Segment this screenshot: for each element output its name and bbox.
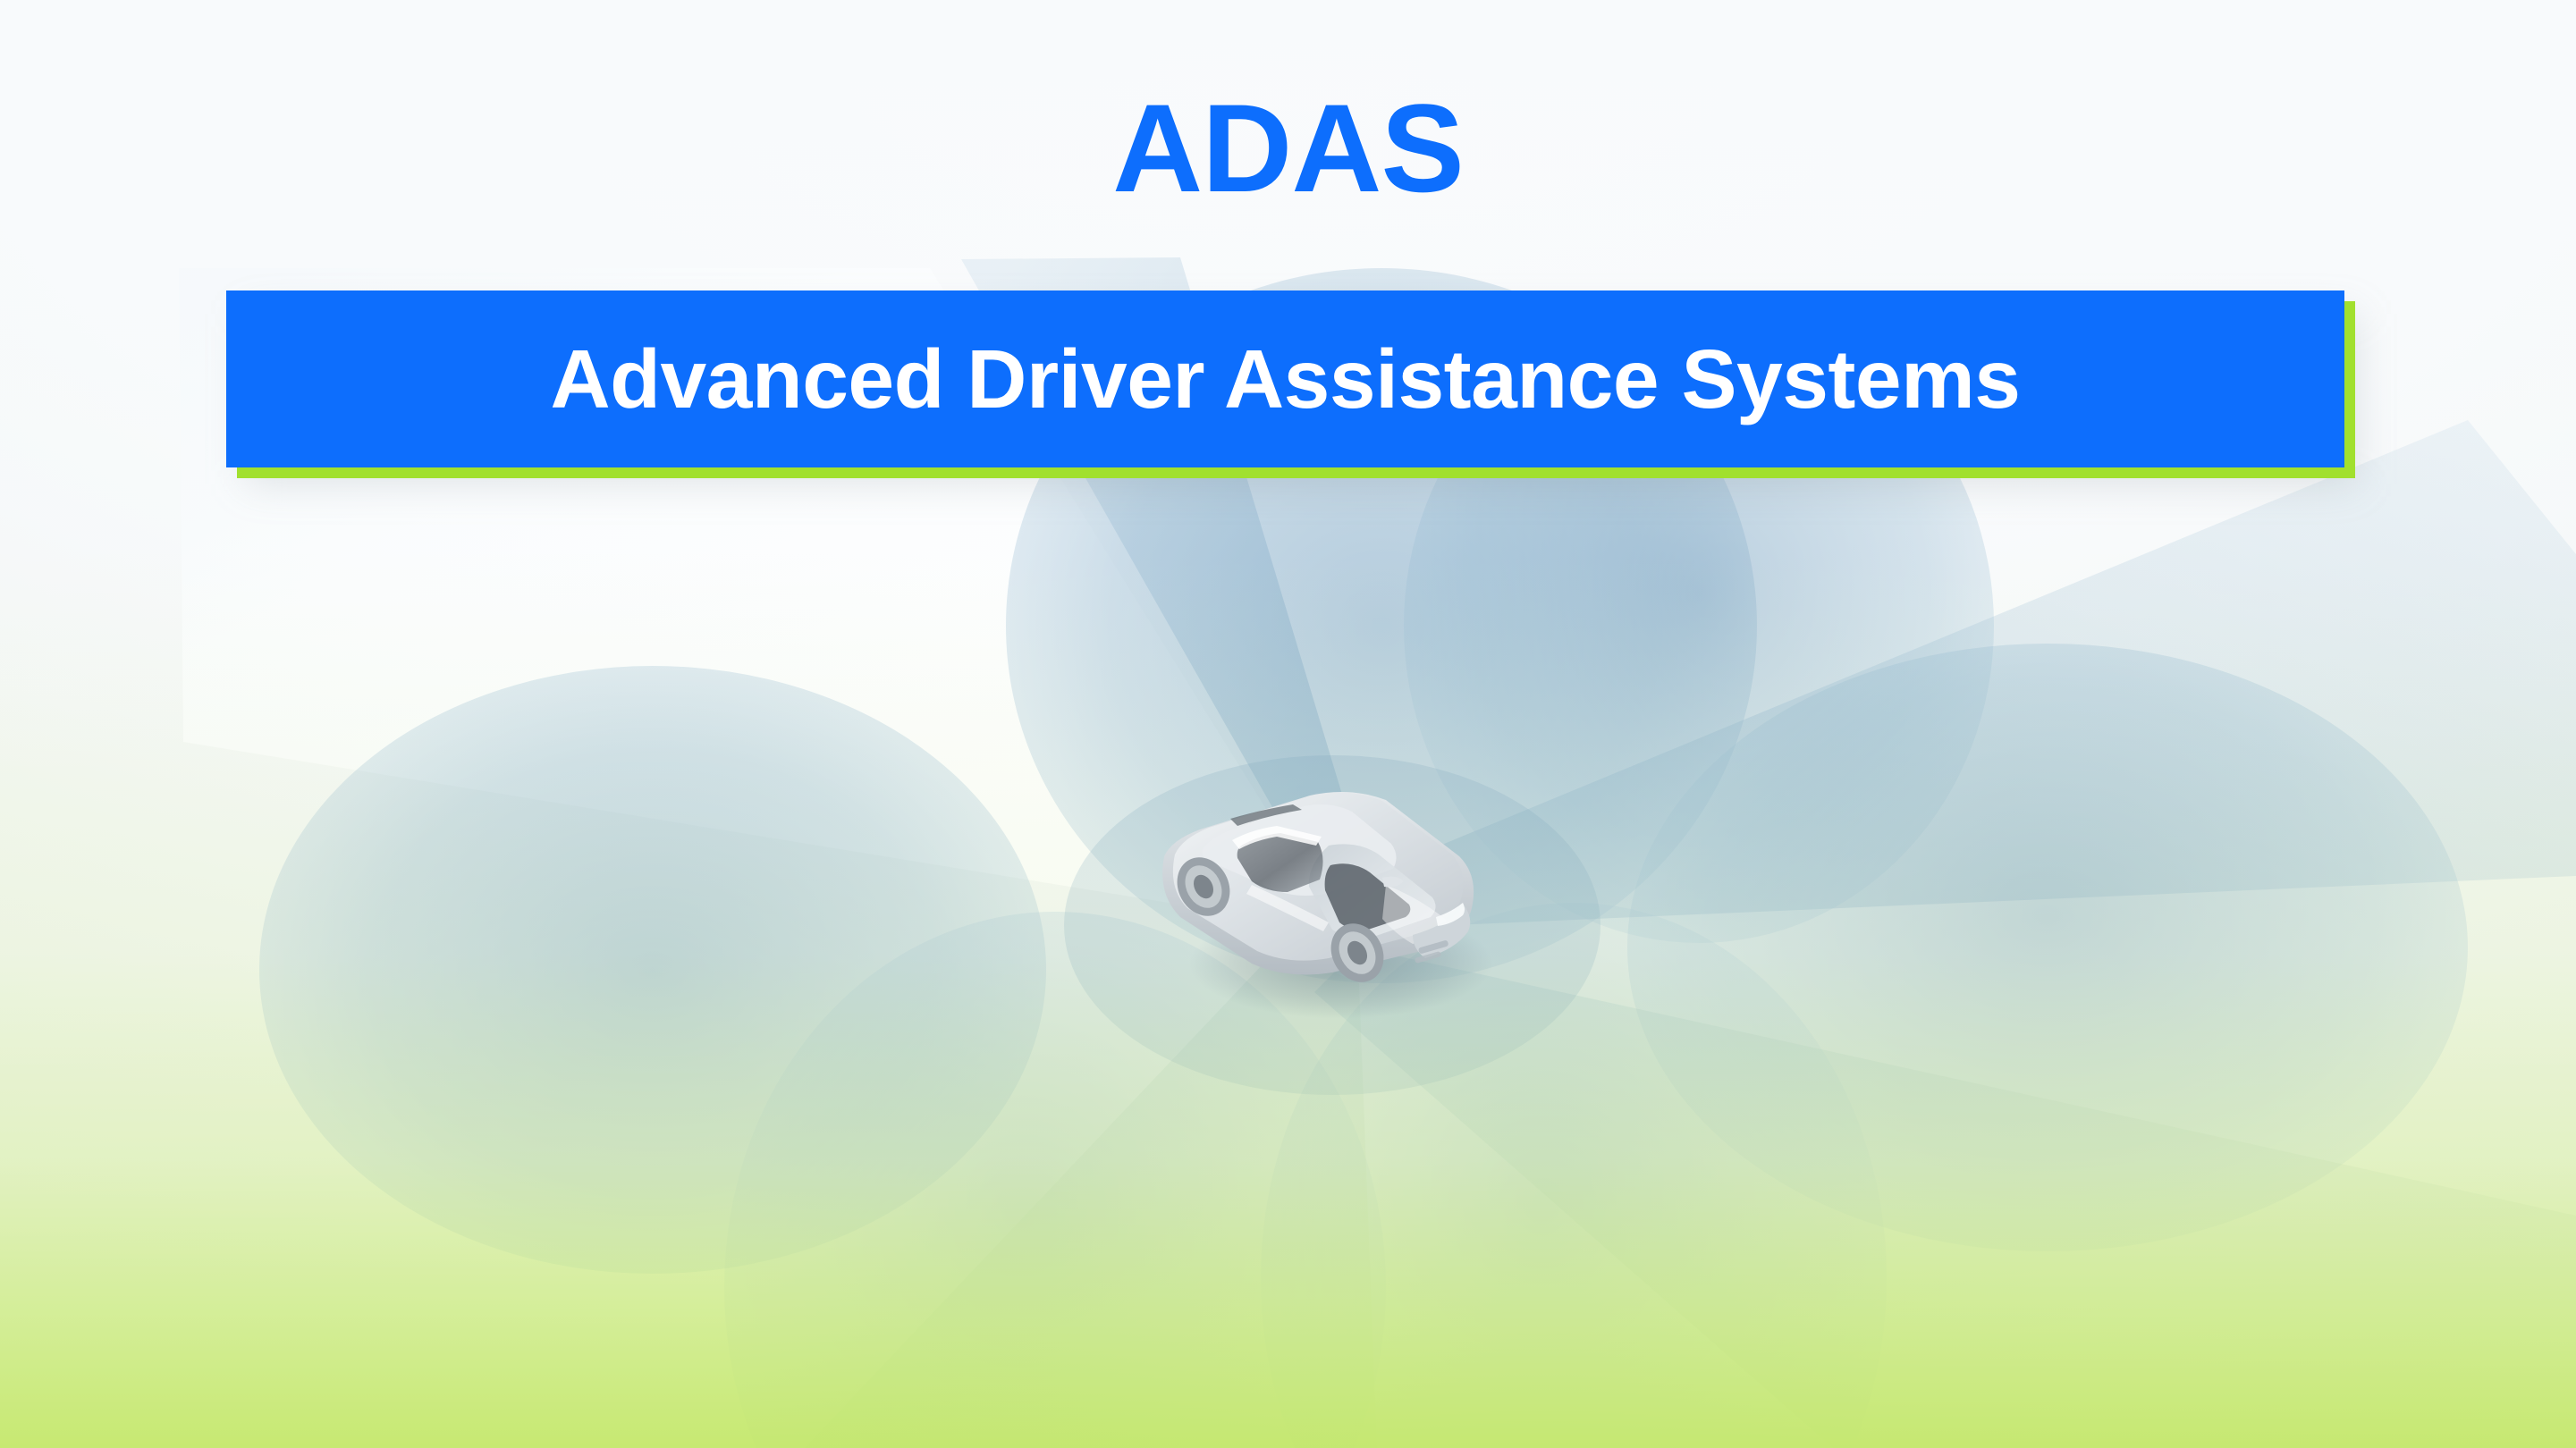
subtitle-banner: Advanced Driver Assistance Systems bbox=[226, 290, 2344, 467]
subtitle-text: Advanced Driver Assistance Systems bbox=[550, 338, 2020, 421]
adas-title-slide: ADAS Advanced Driver Assistance Systems bbox=[0, 0, 2576, 1448]
title-block: ADAS bbox=[0, 0, 2576, 211]
vehicle-illustration bbox=[1118, 751, 1538, 1037]
subtitle-banner-zone: Advanced Driver Assistance Systems bbox=[226, 290, 2344, 467]
page-title: ADAS bbox=[0, 0, 2576, 211]
sensor-zone-left-blind-spot-lobe bbox=[259, 666, 1046, 1274]
sensor-zone-right-blind-spot-lobe bbox=[1627, 644, 2468, 1251]
